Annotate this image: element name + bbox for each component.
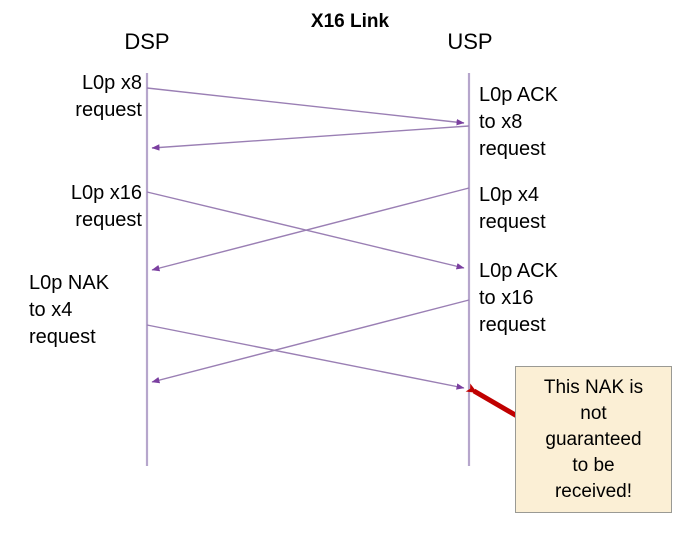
message-arrow-l0p-ack-to-x8-request (152, 126, 469, 148)
message-arrow-l0p-x8-request (147, 88, 464, 123)
lifeline-header-dsp: DSP (0, 28, 294, 55)
message-label-l0p-x4-request: L0p x4 request (479, 182, 679, 236)
message-label-l0p-ack-to-x8-request: L0p ACK to x8 request (479, 82, 679, 163)
message-arrow-l0p-nak-to-x4-request (147, 325, 464, 388)
message-label-l0p-x16-request: L0p x16 request (22, 180, 142, 234)
message-arrow-l0p-ack-to-x16-request (152, 300, 469, 382)
message-label-l0p-nak-to-x4-request: L0p NAK to x4 request (29, 270, 159, 351)
sequence-diagram-canvas: X16 Link DSP USP L0p x8 request L0p x16 … (0, 0, 700, 544)
callout-note-text: This NAK is not guaranteed to be receive… (544, 375, 643, 505)
message-label-l0p-ack-to-x16-request: L0p ACK to x16 request (479, 258, 679, 339)
message-label-l0p-x8-request: L0p x8 request (22, 70, 142, 124)
callout-note: This NAK is not guaranteed to be receive… (515, 366, 672, 513)
lifeline-header-usp: USP (380, 28, 560, 55)
